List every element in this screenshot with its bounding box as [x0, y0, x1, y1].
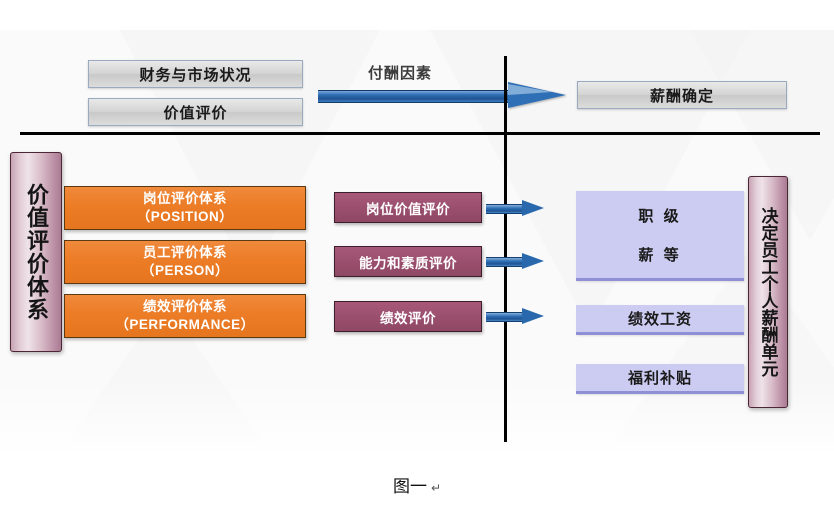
box-position-value-evaluation[interactable]: 岗位价值评价	[334, 192, 482, 223]
box-position-evaluation-system-en: （POSITION）	[137, 208, 234, 226]
small-arrow-shaft-3	[486, 312, 526, 322]
small-arrow-shaft-1	[486, 204, 526, 214]
pillar-value-evaluation-system-label: 价值评价体系	[20, 183, 52, 321]
box-position-evaluation-system[interactable]: 岗位评价体系 （POSITION）	[64, 186, 306, 230]
small-arrow-right-icon-2	[486, 253, 544, 269]
small-arrow-head-3	[522, 308, 544, 324]
box-performance-evaluation-system-cn: 绩效评价体系	[143, 299, 227, 316]
box-rank-and-salary-grade[interactable]: 职 级 薪 等	[576, 191, 744, 281]
box-performance-evaluation-label: 绩效评价	[380, 307, 436, 327]
pillar-value-evaluation-system: 价值评价体系	[10, 152, 62, 352]
box-value-evaluation[interactable]: 价值评价	[88, 98, 303, 126]
small-arrow-right-icon-1	[486, 200, 544, 216]
small-arrow-right-icon-3	[486, 308, 544, 324]
pillar-employee-compensation-unit: 决定员工个人薪酬单元	[748, 176, 788, 408]
small-arrow-shaft-2	[486, 257, 526, 267]
figure-caption-text: 图一	[393, 477, 427, 497]
box-welfare-subsidy-label: 福利补贴	[628, 367, 692, 388]
box-person-evaluation-system-en: （PERSON）	[141, 262, 229, 280]
box-position-evaluation-system-cn: 岗位评价体系	[143, 191, 227, 208]
box-performance-evaluation[interactable]: 绩效评价	[334, 301, 482, 332]
box-performance-evaluation-system-en: （PERFORMANCE）	[115, 316, 254, 334]
box-person-evaluation-system-cn: 员工评价体系	[143, 245, 227, 262]
big-arrow-right-icon	[318, 82, 568, 108]
pilcrow-mark: ↵	[431, 481, 441, 495]
box-compensation-determination[interactable]: 薪酬确定	[577, 81, 787, 109]
vertical-divider	[504, 56, 507, 442]
box-finance-market-label: 财务与市场状况	[139, 64, 251, 85]
small-arrow-head-1	[522, 200, 544, 216]
box-person-evaluation-system[interactable]: 员工评价体系 （PERSON）	[64, 240, 306, 284]
box-finance-market[interactable]: 财务与市场状况	[88, 60, 303, 88]
box-welfare-subsidy[interactable]: 福利补贴	[576, 364, 744, 394]
big-arrow-head-highlight	[508, 84, 552, 95]
box-value-evaluation-label: 价值评价	[163, 102, 227, 123]
box-compensation-determination-label: 薪酬确定	[650, 85, 714, 106]
box-performance-pay-label: 绩效工资	[628, 308, 692, 329]
box-salary-grade-label: 薪 等	[638, 244, 681, 265]
box-performance-pay[interactable]: 绩效工资	[576, 305, 744, 335]
diagram-canvas: 财务与市场状况 价值评价 付酬因素 薪酬确定 价值评价体系 岗位评价体系 （PO…	[0, 0, 834, 510]
box-competency-quality-evaluation[interactable]: 能力和素质评价	[334, 246, 482, 277]
box-competency-quality-evaluation-label: 能力和素质评价	[359, 252, 457, 272]
big-arrow-shaft	[318, 90, 514, 103]
figure-caption: 图一↵	[0, 472, 834, 497]
box-performance-evaluation-system[interactable]: 绩效评价体系 （PERFORMANCE）	[64, 294, 306, 338]
pillar-employee-compensation-unit-label: 决定员工个人薪酬单元	[756, 207, 781, 377]
box-rank-label: 职 级	[638, 205, 681, 226]
arrow-label-compensation-factors: 付酬因素	[368, 62, 432, 83]
small-arrow-head-2	[522, 253, 544, 269]
box-position-value-evaluation-label: 岗位价值评价	[366, 198, 450, 218]
horizontal-divider	[20, 132, 820, 135]
